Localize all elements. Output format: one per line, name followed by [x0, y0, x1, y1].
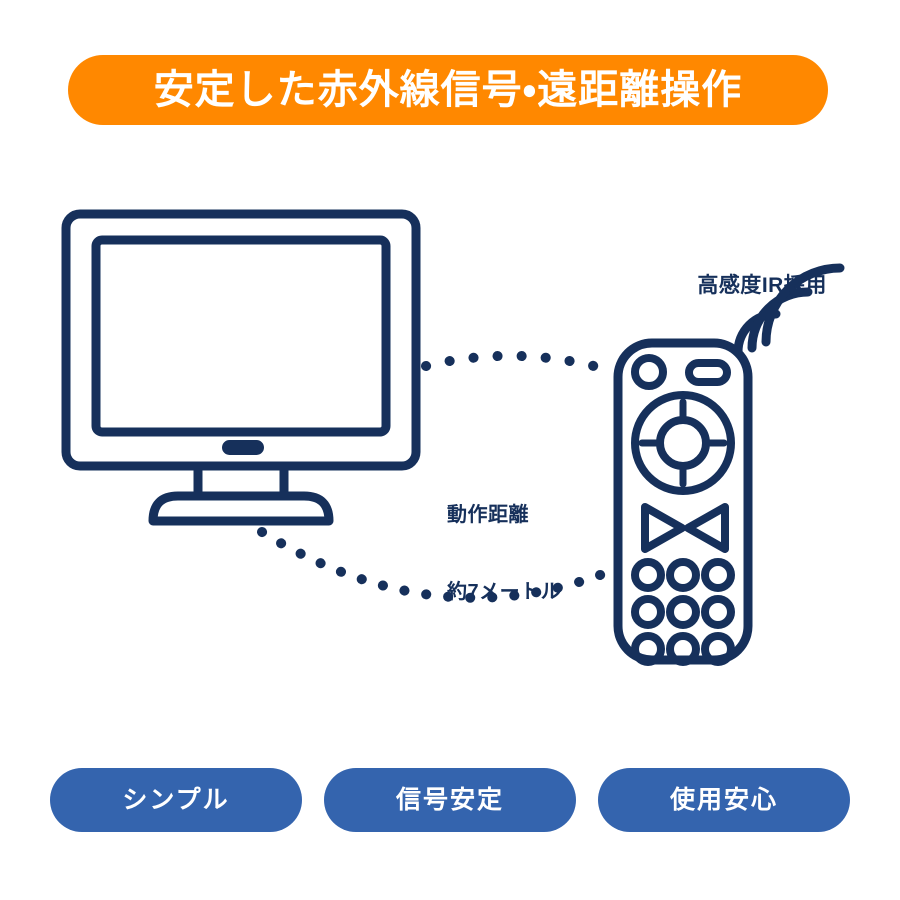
power-button [635, 358, 663, 386]
keypad-button [635, 636, 661, 662]
keypad-button [705, 599, 731, 625]
keypad-button [635, 599, 661, 625]
keypad-button [705, 562, 731, 588]
ir-path-lower [262, 532, 618, 598]
keypad-button [670, 562, 696, 588]
distance-label: 動作距離 約7メートル [447, 452, 561, 657]
feature-pill-safe-use[interactable]: 使用安心 [598, 768, 850, 832]
distance-label-line1: 動作距離 [447, 503, 561, 529]
title-text: 安定した赤外線信号・遠距離操作 [154, 70, 743, 110]
distance-label-line2: 約7メートル [447, 580, 561, 606]
infographic-page: 安定した赤外線信号・遠距離操作 [0, 0, 900, 900]
keypad-button [670, 636, 696, 662]
feature-pill-row: シンプル 信号安定 使用安心 [0, 768, 900, 832]
mode-button [689, 363, 727, 382]
feature-pill-simple-label: シンプル [122, 788, 229, 813]
feature-pill-simple[interactable]: シンプル [50, 768, 302, 832]
ir-path-upper [426, 356, 616, 372]
keypad-button [670, 599, 696, 625]
ir-sensor-label-text: 高感度IR採用 [697, 274, 827, 297]
title-banner: 安定した赤外線信号・遠距離操作 [68, 55, 828, 125]
tv-base [153, 496, 329, 521]
tv-logo-bar [225, 443, 261, 452]
feature-pill-signal-stable-label: 信号安定 [396, 788, 504, 813]
direction-pad-center [660, 420, 706, 466]
television [66, 214, 416, 521]
ir-sensor-label: 高感度IR採用 [672, 246, 827, 327]
forward-button [645, 507, 682, 549]
feature-pill-signal-stable[interactable]: 信号安定 [324, 768, 576, 832]
tv-screen [96, 240, 386, 432]
rewind-button [688, 507, 725, 549]
feature-pill-safe-use-label: 使用安心 [670, 788, 778, 813]
keypad-button [635, 562, 661, 588]
remote-control [618, 343, 748, 662]
keypad-button [705, 636, 731, 662]
